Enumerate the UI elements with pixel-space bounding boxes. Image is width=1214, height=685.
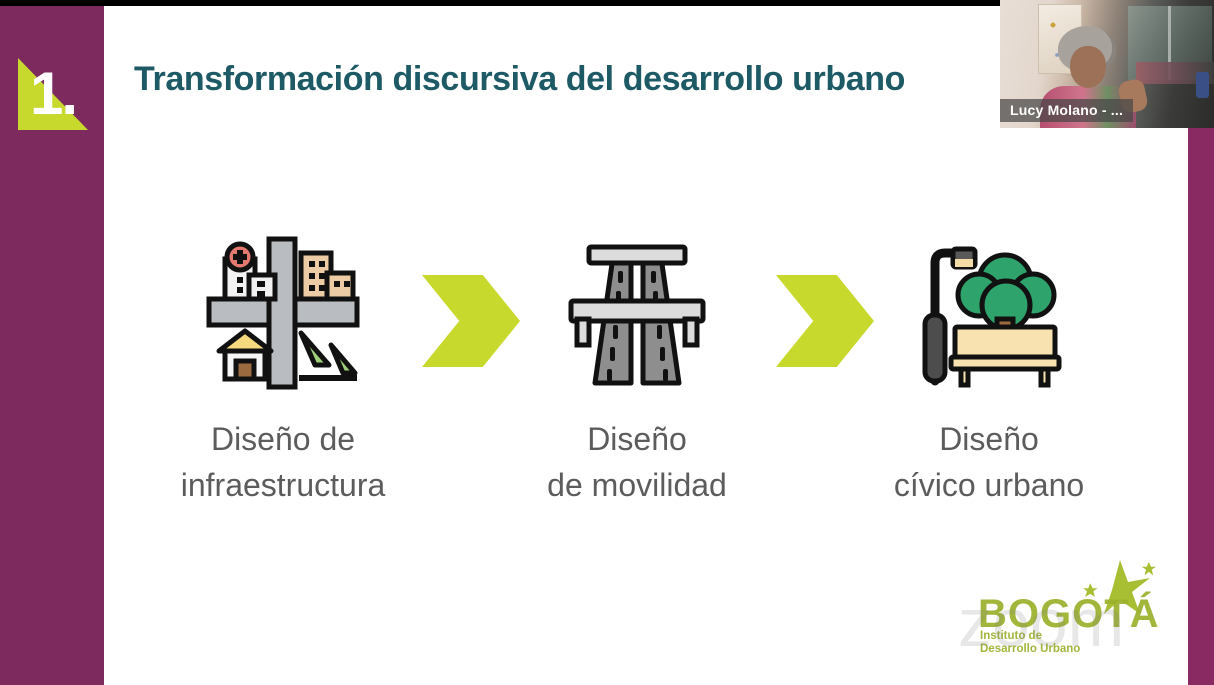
- screen-capture-stage: 1. Transformación discursiva del desarro…: [0, 0, 1214, 685]
- flow-step-infrastructure: Diseño de infraestructura: [168, 228, 398, 508]
- slide-title: Transformación discursiva del desarrollo…: [134, 60, 1084, 99]
- process-flow-diagram: Diseño de infraestructura: [104, 228, 1188, 548]
- video-bottle-object: [1196, 72, 1209, 98]
- highway-overpass-icon: [522, 228, 752, 398]
- flow-step-label: Diseño de movilidad: [522, 416, 752, 508]
- video-person-face: [1070, 46, 1106, 88]
- video-participant-thumbnail[interactable]: Lucy Molano - ...: [1000, 0, 1214, 128]
- bogota-idu-logo: BOGOTÁ Instituto de Desarrollo Urbano: [970, 562, 1170, 662]
- chevron-right-arrow: [776, 275, 874, 367]
- city-block-infrastructure-icon: [168, 228, 398, 398]
- slide-number-badge: 1.: [18, 58, 88, 130]
- flow-step-label: Diseño de infraestructura: [168, 416, 398, 508]
- flow-step-mobility: Diseño de movilidad: [522, 228, 752, 508]
- right-purple-band: [1188, 128, 1214, 685]
- flow-step-label: Diseño cívico urbano: [874, 416, 1104, 508]
- slide-number-label: 1.: [18, 58, 88, 130]
- park-bench-tree-lamp-icon: [874, 228, 1104, 398]
- flow-step-civic-urban: Diseño cívico urbano: [874, 228, 1104, 508]
- chevron-right-arrow: [422, 275, 520, 367]
- participant-name-label: Lucy Molano - ...: [1000, 99, 1133, 122]
- logo-subtitle: Instituto de Desarrollo Urbano: [980, 630, 1080, 656]
